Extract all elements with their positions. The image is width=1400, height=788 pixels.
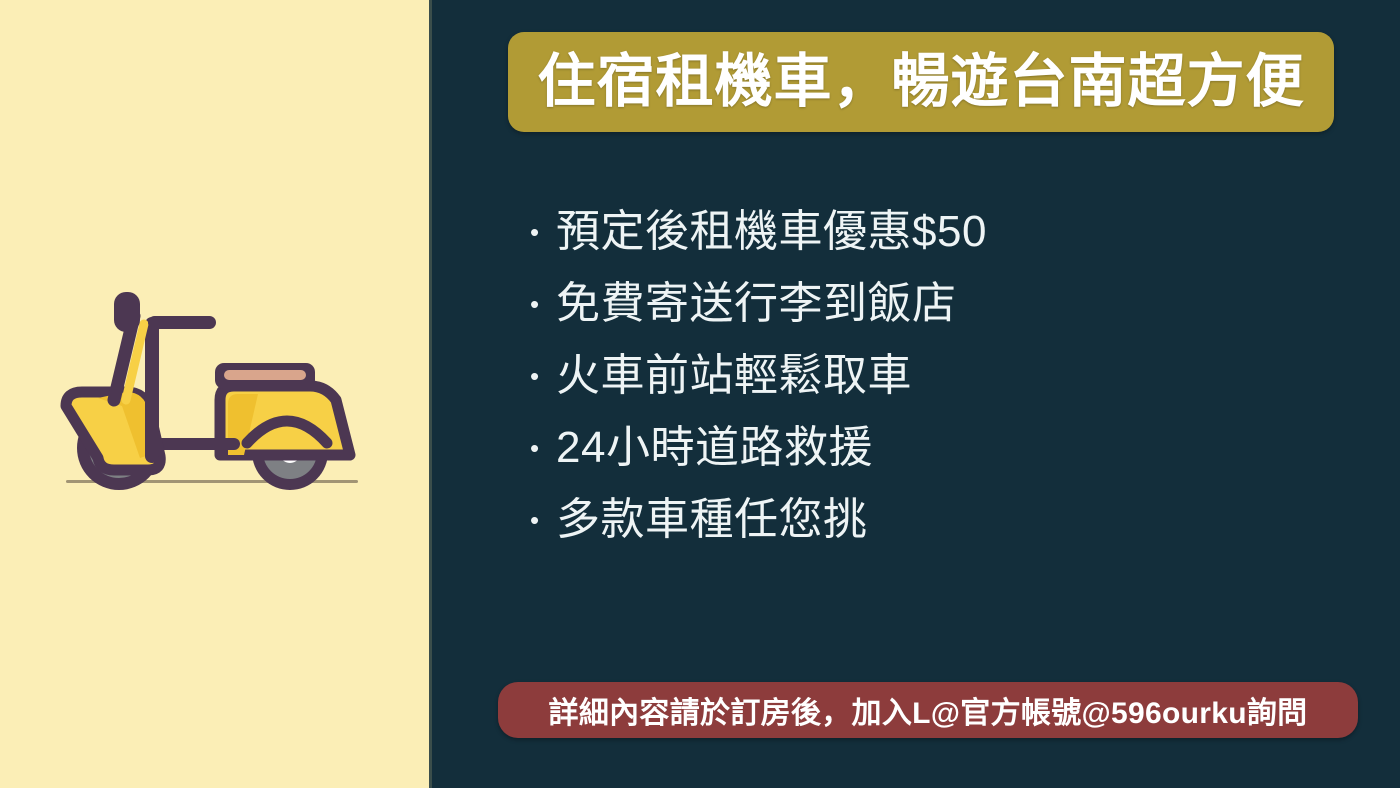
list-item: • 火車前站輕鬆取車 [530, 349, 1330, 421]
slide-canvas: 住宿租機車，暢遊台南超方便 • 預定後租機車優惠$50 • 免費寄送行李到飯店 … [0, 0, 1400, 788]
list-item: • 免費寄送行李到飯店 [530, 277, 1330, 349]
bullet-dot-icon: • [530, 205, 556, 259]
footer-banner: 詳細內容請於訂房後，加入L@官方帳號@596ourku詢問 [498, 682, 1358, 738]
scooter-illustration [52, 280, 372, 505]
scooter-handlebar [148, 316, 216, 329]
list-item: • 多款車種任您挑 [530, 493, 1330, 565]
list-item-label: 預定後租機車優惠$50 [556, 205, 987, 259]
scooter-seat [215, 363, 315, 389]
list-item: • 預定後租機車優惠$50 [530, 205, 1330, 277]
footer-note: 詳細內容請於訂房後，加入L@官方帳號@596ourku詢問 [549, 688, 1308, 732]
bullet-dot-icon: • [530, 421, 556, 475]
list-item: • 24小時道路救援 [530, 421, 1330, 493]
list-item-label: 火車前站輕鬆取車 [556, 349, 912, 403]
page-title: 住宿租機車，暢遊台南超方便 [537, 53, 1304, 111]
scooter-mirror [114, 292, 140, 332]
list-item-label: 多款車種任您挑 [556, 493, 868, 547]
title-banner: 住宿租機車，暢遊台南超方便 [508, 32, 1334, 132]
list-item-label: 24小時道路救援 [556, 421, 873, 475]
left-image-panel [0, 0, 429, 788]
bullet-dot-icon: • [530, 349, 556, 403]
feature-bullet-list: • 預定後租機車優惠$50 • 免費寄送行李到飯店 • 火車前站輕鬆取車 • 2… [530, 205, 1330, 565]
list-item-label: 免費寄送行李到飯店 [556, 277, 957, 331]
bullet-dot-icon: • [530, 493, 556, 547]
bullet-dot-icon: • [530, 277, 556, 331]
